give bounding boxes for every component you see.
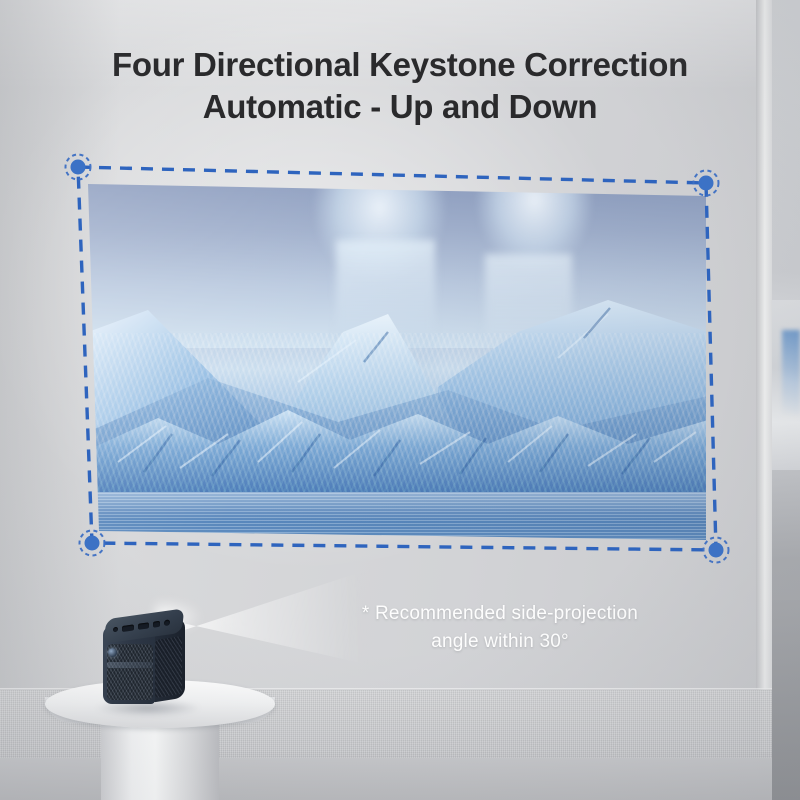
projector-side-grille [155,636,182,698]
background-room-floor [770,600,800,800]
usb-port-icon [122,624,134,632]
page-title: Four Directional Keystone Correction Aut… [0,44,800,128]
projected-image-content [88,182,708,542]
audio-jack-icon [164,619,170,626]
background-sofa-accent [782,330,800,415]
projector-accent-band [107,662,153,668]
product-feature-scene: Four Directional Keystone Correction Aut… [0,0,800,800]
page-title-line-1: Four Directional Keystone Correction [112,46,688,83]
usb-c-port-icon [153,621,160,628]
projector-lens-icon [108,648,117,657]
hdmi-port-icon [138,622,149,630]
page-title-line-2: Automatic - Up and Down [0,86,800,128]
projection-note-line-2: angle within 30° [431,631,569,652]
projector-device [103,612,187,708]
power-port-icon [113,627,118,633]
